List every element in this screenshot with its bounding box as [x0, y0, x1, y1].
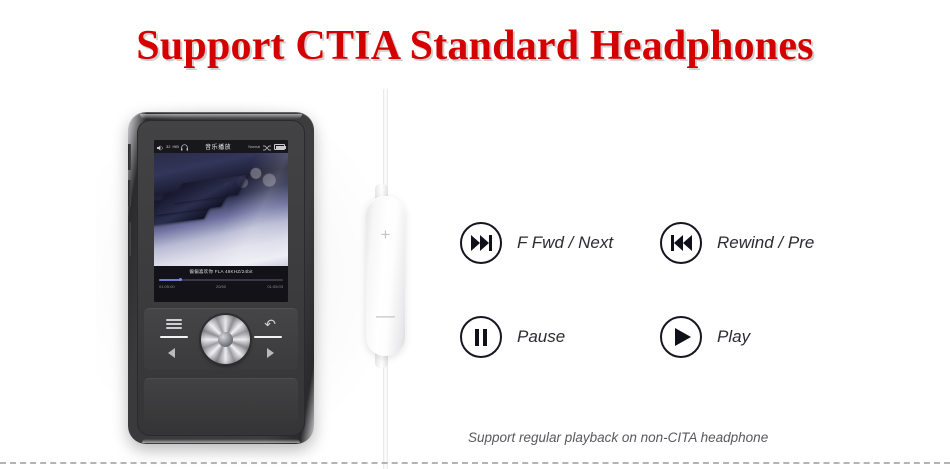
device-screen: 32 HiB 音乐播放 Normal — [154, 140, 288, 302]
battery-icon — [274, 144, 285, 150]
right-arrow-icon[interactable] — [267, 348, 274, 358]
legend-item-play: Play — [660, 316, 750, 358]
screen-status-bar: 32 HiB 音乐播放 Normal — [154, 140, 288, 153]
time-row: 01:05:00 20/50 01:05:03 — [154, 281, 288, 289]
album-art-sheen — [154, 153, 288, 266]
fast-forward-icon — [460, 222, 502, 264]
fast-forward-glyph — [471, 235, 492, 251]
pause-glyph — [475, 329, 486, 346]
function-legend: F Fwd / Next Rewind / Pre Pause — [460, 196, 930, 384]
legend-row-1: F Fwd / Next Rewind / Pre — [460, 196, 930, 290]
volume-value: 32 — [166, 144, 170, 149]
device-top-highlight — [140, 114, 302, 119]
music-player-device: 32 HiB 音乐播放 Normal — [128, 112, 314, 444]
play-icon — [660, 316, 702, 358]
left-dash-button[interactable] — [160, 336, 188, 338]
menu-icon[interactable] — [166, 319, 182, 330]
screen-title: 音乐播放 — [188, 142, 249, 151]
eq-mode-label: Normal — [248, 145, 260, 149]
pause-icon — [460, 316, 502, 358]
right-dash-button[interactable] — [254, 336, 282, 338]
page-title: Support CTIA Standard Headphones — [0, 22, 950, 70]
inline-remote-control[interactable]: + — — [366, 196, 405, 356]
bottom-divider — [0, 462, 950, 464]
gain-label: HiB — [172, 144, 178, 149]
rewind-glyph — [671, 235, 692, 251]
legend-label-fast-forward: F Fwd / Next — [517, 233, 613, 253]
rewind-icon — [660, 222, 702, 264]
track-title: 偏偏喜欢你 FLA 48KHZ/24bit — [154, 269, 288, 275]
play-glyph — [672, 328, 691, 346]
album-art — [154, 153, 288, 266]
elapsed-time: 01:05:00 — [159, 284, 175, 289]
footnote-caption: Support regular playback on non-CITA hea… — [468, 430, 768, 445]
track-position: 20/50 — [216, 284, 226, 289]
legend-item-fast-forward: F Fwd / Next — [460, 222, 660, 264]
volume-up-button[interactable]: + — [366, 226, 405, 243]
legend-row-2: Pause Play — [460, 290, 930, 384]
device-bottom-highlight — [142, 439, 300, 443]
legend-item-rewind: Rewind / Pre — [660, 222, 814, 264]
jog-wheel[interactable] — [201, 315, 250, 364]
device-control-panel: ↶ — [144, 308, 298, 370]
promo-page: Support CTIA Standard Headphones 32 HiB — [0, 0, 950, 469]
side-button-3[interactable] — [128, 222, 131, 256]
device-body: 32 HiB 音乐播放 Normal — [128, 112, 314, 444]
volume-down-button[interactable]: — — [366, 308, 405, 325]
total-time: 01:05:03 — [267, 284, 283, 289]
legend-item-pause: Pause — [460, 316, 660, 358]
legend-label-pause: Pause — [517, 327, 565, 347]
legend-label-rewind: Rewind / Pre — [717, 233, 814, 253]
legend-label-play: Play — [717, 327, 750, 347]
left-arrow-icon[interactable] — [168, 348, 175, 358]
progress-bar[interactable] — [159, 279, 283, 281]
device-bottom-panel — [144, 378, 298, 422]
return-icon[interactable]: ↶ — [264, 318, 276, 330]
side-button-2[interactable] — [128, 180, 131, 206]
side-button-1[interactable] — [128, 144, 131, 170]
now-playing-bar: 偏偏喜欢你 FLA 48KHZ/24bit 01:05:00 20/50 01:… — [154, 266, 288, 302]
